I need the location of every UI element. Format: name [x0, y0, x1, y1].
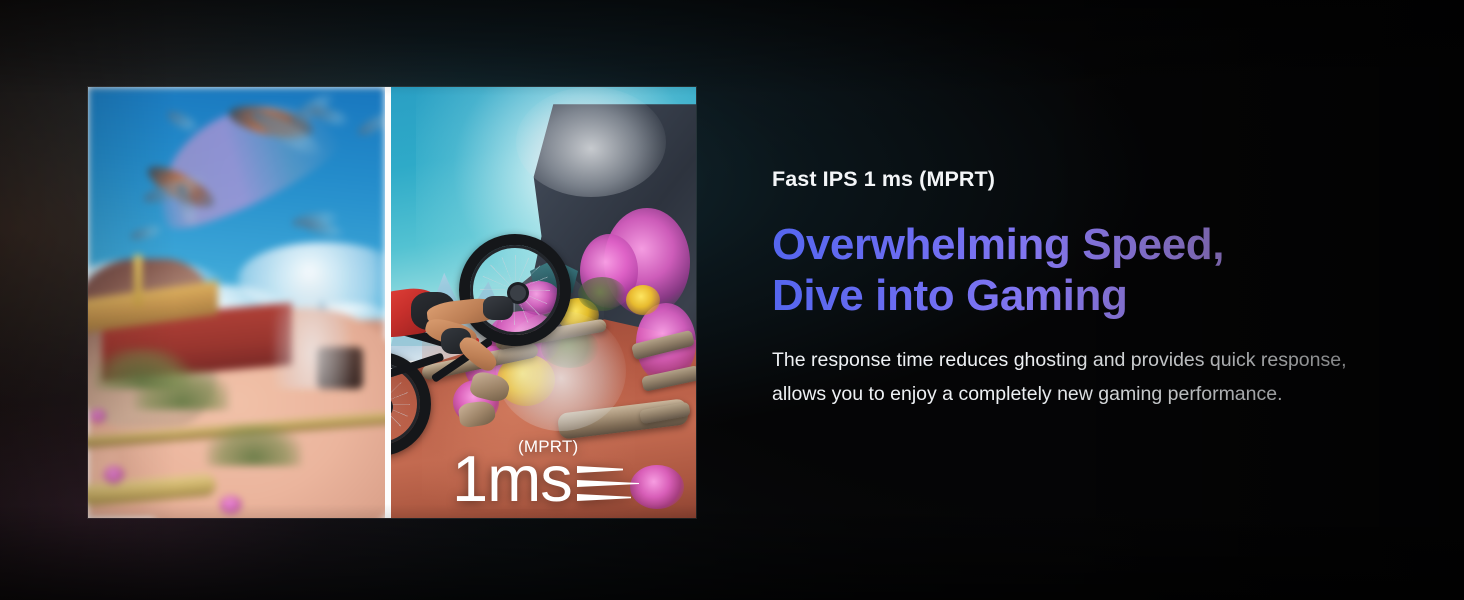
speed-lines-icon	[577, 466, 639, 510]
badge-value: 1ms	[452, 446, 572, 511]
mist	[516, 87, 666, 197]
yellow-post	[134, 255, 142, 307]
grass-tuft	[94, 347, 190, 389]
rider-shoe	[468, 370, 511, 404]
mountain-biker	[391, 216, 595, 446]
rider-shoe	[458, 400, 497, 429]
flower	[220, 496, 242, 514]
grass-tuft	[206, 424, 302, 466]
smoke-plume	[273, 269, 351, 389]
rider-glove	[483, 296, 513, 320]
fast-ips-feature-banner: (MPRT) 1ms Fast IPS 1 ms (MPRT) Overwhel…	[0, 0, 1464, 600]
speed-line	[577, 466, 623, 473]
page-title: Overwhelming Speed, Dive into Gaming	[772, 219, 1376, 321]
headline-line-2: Dive into Gaming	[772, 270, 1376, 321]
blurred-scene	[88, 87, 385, 518]
bike-rear-wheel	[459, 234, 571, 346]
headline-line-1: Overwhelming Speed,	[772, 219, 1376, 270]
feature-text-column: Fast IPS 1 ms (MPRT) Overwhelming Speed,…	[772, 166, 1376, 411]
left-panel-ghosting-image	[88, 87, 385, 518]
speed-line	[577, 480, 639, 487]
eyebrow-label: Fast IPS 1 ms (MPRT)	[772, 166, 1376, 193]
response-time-badge: (MPRT) 1ms	[452, 438, 642, 516]
flower	[104, 466, 124, 484]
speed-line	[577, 494, 631, 501]
wheel-spokes	[391, 373, 410, 435]
body-description: The response time reduces ghosting and p…	[772, 343, 1372, 411]
